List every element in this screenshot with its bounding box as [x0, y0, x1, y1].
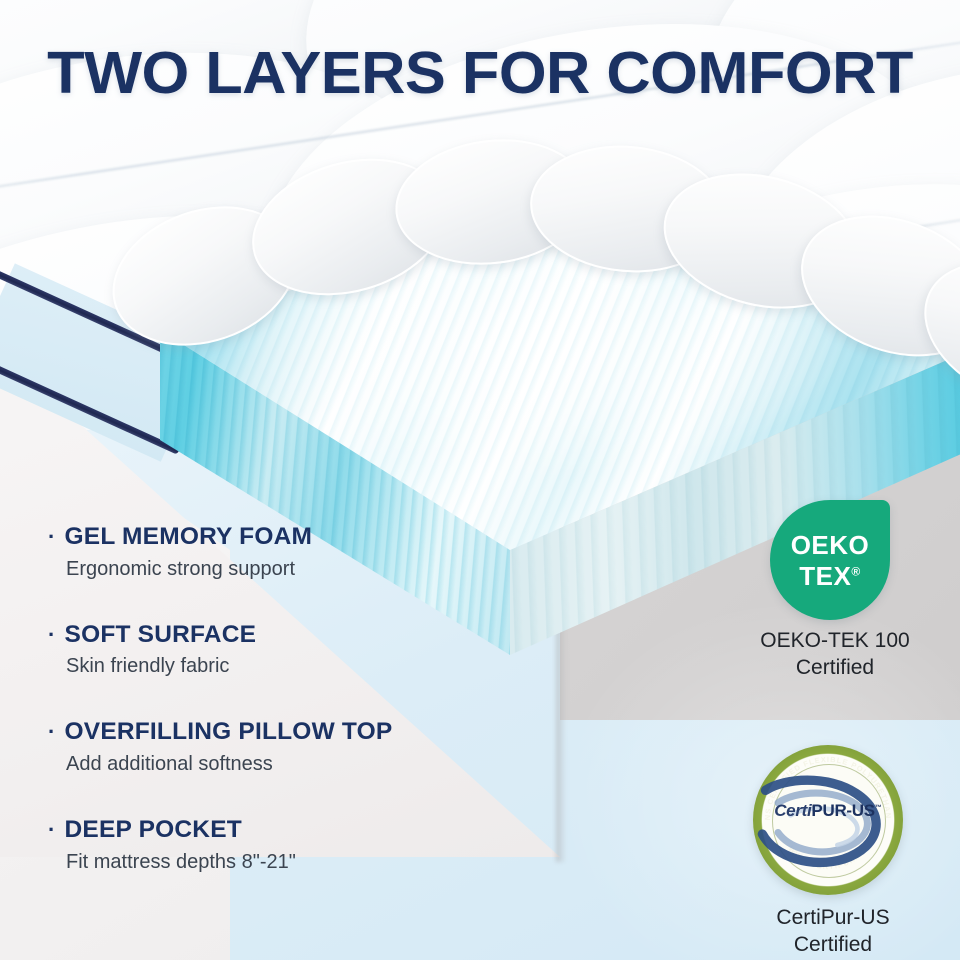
- oeko-caption-line1: OEKO-TEK 100: [710, 628, 960, 655]
- oeko-logo-line1: OEKO: [791, 532, 870, 558]
- feature-subtext: Fit mattress depths 8"-21": [66, 850, 516, 874]
- oeko-logo-line2-text: TEX: [799, 561, 851, 591]
- feature-heading: OVERFILLING PILLOW TOP: [65, 719, 393, 745]
- certipur-badge: CONTAINS CERTIFIED FLEXIBLE POLYURETHANE…: [753, 745, 913, 895]
- trademark-icon: ™: [875, 804, 882, 811]
- certipur-caption: CertiPur-US Certified: [698, 905, 960, 959]
- feature-item: · DEEP POCKET Fit mattress depths 8"-21": [46, 817, 516, 874]
- pillow-top-scallops: [130, 150, 960, 410]
- feature-heading-row: · SOFT SURFACE: [46, 622, 516, 648]
- feature-item: · OVERFILLING PILLOW TOP Add additional …: [46, 719, 516, 776]
- feature-item: · GEL MEMORY FOAM Ergonomic strong suppo…: [46, 524, 516, 581]
- infographic-canvas: TWO LAYERS FOR COMFORT · GEL MEMORY FOAM…: [0, 0, 960, 960]
- feature-heading: SOFT SURFACE: [65, 622, 257, 648]
- oeko-caption: OEKO-TEK 100 Certified: [710, 628, 960, 682]
- feature-heading: DEEP POCKET: [65, 817, 242, 843]
- certipur-seal-icon: CONTAINS CERTIFIED FLEXIBLE POLYURETHANE…: [753, 745, 903, 895]
- oeko-tex-badge: OEKO TEX® OEKO-TEK 100 Certified: [770, 500, 900, 620]
- feature-subtext: Ergonomic strong support: [66, 557, 516, 581]
- oeko-caption-line2: Certified: [710, 655, 960, 682]
- certipur-caption-line1: CertiPur-US: [698, 905, 960, 932]
- feature-list: · GEL MEMORY FOAM Ergonomic strong suppo…: [46, 524, 516, 874]
- page-title: TWO LAYERS FOR COMFORT: [0, 44, 960, 103]
- wordmark-part2: PUR-US: [811, 801, 874, 820]
- certipur-wordmark: CertiPUR-US™: [753, 802, 903, 819]
- feature-heading-row: · DEEP POCKET: [46, 817, 516, 843]
- certipur-caption-line2: Certified: [698, 932, 960, 959]
- registered-trademark-icon: ®: [851, 564, 860, 578]
- feature-subtext: Add additional softness: [66, 752, 516, 776]
- oeko-tex-logo-icon: OEKO TEX®: [770, 500, 890, 620]
- swoosh-icon: [753, 745, 903, 895]
- feature-subtext: Skin friendly fabric: [66, 654, 516, 678]
- oeko-logo-line2: TEX®: [799, 563, 860, 589]
- bullet-icon: ·: [48, 526, 56, 548]
- feature-item: · SOFT SURFACE Skin friendly fabric: [46, 622, 516, 679]
- bullet-icon: ·: [48, 624, 56, 646]
- bullet-icon: ·: [48, 721, 56, 743]
- feature-heading: GEL MEMORY FOAM: [65, 524, 313, 550]
- feature-heading-row: · OVERFILLING PILLOW TOP: [46, 719, 516, 745]
- feature-heading-row: · GEL MEMORY FOAM: [46, 524, 516, 550]
- wordmark-part1: Certi: [774, 801, 811, 820]
- bullet-icon: ·: [48, 819, 56, 841]
